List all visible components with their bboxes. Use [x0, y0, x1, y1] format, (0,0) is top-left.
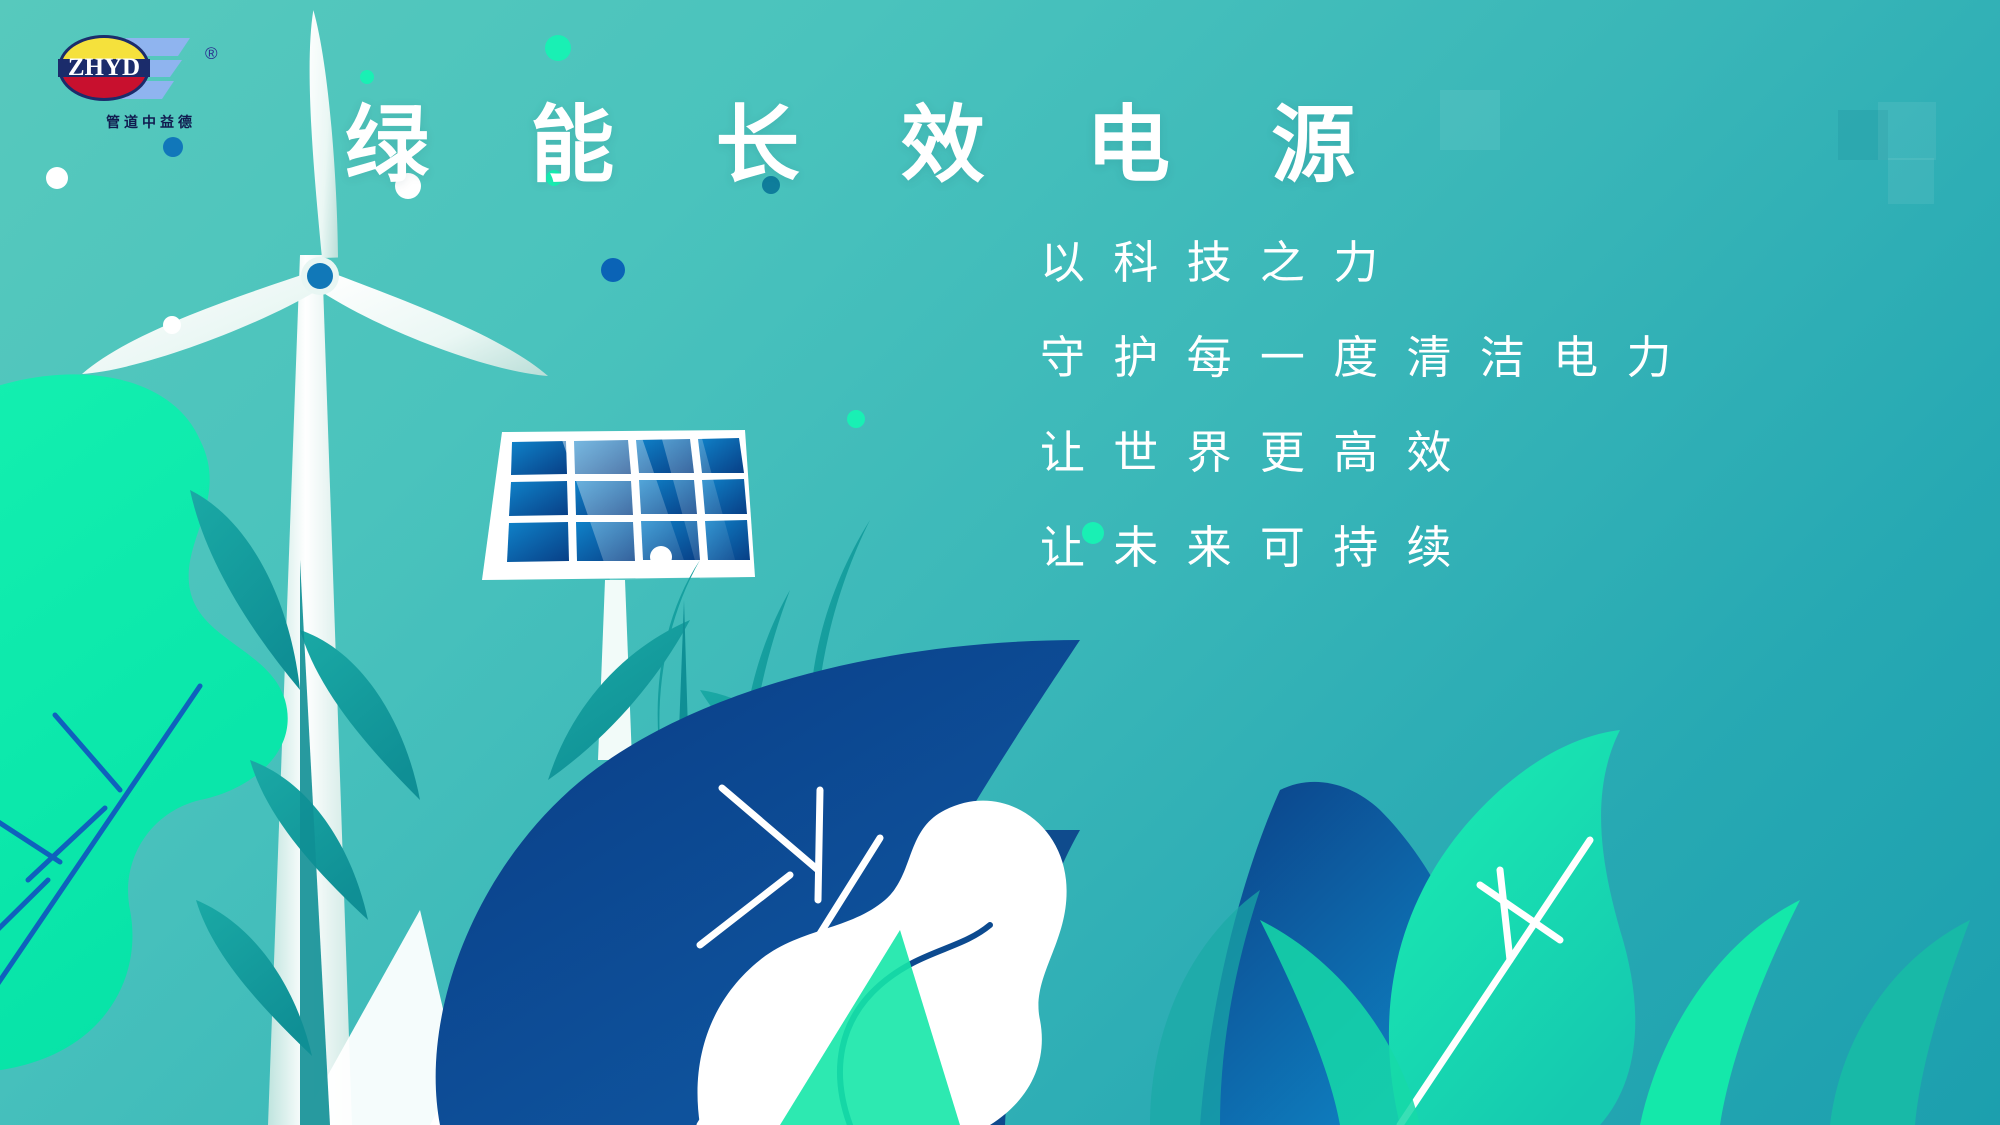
- company-logo[interactable]: ZHYD ® 管道中益德: [50, 20, 220, 120]
- leaf-mint-spear-b: [1640, 900, 1800, 1125]
- logo-ellipse-icon: ZHYD: [58, 35, 150, 101]
- logo-chinese-name: 管道中益德: [106, 112, 196, 132]
- tagline-line-1: 以 科 技 之 力: [1040, 240, 1560, 285]
- tagline-line-4: 让 未 来 可 持 续: [1040, 525, 1560, 570]
- tagline-block: 以 科 技 之 力 守 护 每 一 度 清 洁 电 力 让 世 界 更 高 效 …: [1040, 240, 1560, 620]
- page-title: 绿 能 长 效 电 源: [345, 78, 1391, 199]
- logo-mark-icon: ZHYD: [50, 20, 220, 120]
- logo-wordmark: ZHYD: [68, 54, 140, 81]
- registered-trademark-icon: ®: [205, 45, 218, 62]
- leaf-teal-far-right: [1830, 920, 1970, 1125]
- tagline-line-2: 守 护 每 一 度 清 洁 电 力: [1040, 335, 1560, 380]
- poster-canvas: ZHYD ® 管道中益德 绿 能 长 效 电 源 以 科 技 之 力 守 护 每…: [0, 0, 2000, 1125]
- leaf-mint-right: [1389, 730, 1635, 1125]
- tagline-line-3: 让 世 界 更 高 效: [1040, 430, 1560, 475]
